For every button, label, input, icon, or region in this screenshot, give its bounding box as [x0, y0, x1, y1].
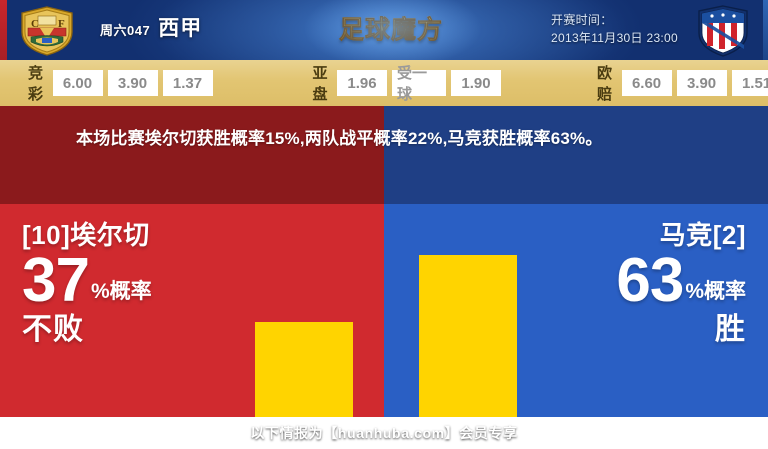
- away-probability-row: 63 %概率: [616, 254, 746, 309]
- headline-band-right: [384, 106, 768, 204]
- odds-group-label: 欧赔: [597, 62, 613, 104]
- elche-cf-crest: C F: [18, 6, 76, 56]
- odds-cell-handicap-line[interactable]: 受一球: [392, 70, 446, 96]
- headline-text: 本场比赛埃尔切获胜概率15%,两队战平概率22%,马竞获胜概率63%。: [76, 125, 706, 153]
- match-round-label: 周六047: [100, 20, 150, 39]
- away-outcome-label: 胜: [616, 315, 746, 345]
- away-probability-value: 63: [616, 254, 683, 309]
- odds-cell-handicap-away[interactable]: 1.90: [451, 70, 501, 96]
- kickoff-info: 开赛时间： 2013年11月30日 23:00: [551, 11, 678, 47]
- odds-cell-euro-away[interactable]: 1.51: [732, 70, 768, 96]
- odds-cell-away-win[interactable]: 1.37: [163, 70, 213, 96]
- odds-group-label: 竞彩: [28, 62, 44, 104]
- away-probability-suffix: %概率: [685, 281, 746, 309]
- home-probability-row: 37 %概率: [22, 254, 152, 309]
- header-left-red-strip: [0, 0, 7, 60]
- kickoff-label: 开赛时间：: [551, 11, 678, 29]
- home-probability-suffix: %概率: [91, 281, 152, 309]
- headline-band-left: [0, 106, 384, 204]
- away-probability-bar: [419, 255, 517, 417]
- odds-group-asian-handicap: 亚盘 1.96 受一球 1.90: [313, 62, 502, 104]
- odds-group-label: 亚盘: [313, 62, 329, 104]
- home-team-name: [10]埃尔切: [22, 222, 152, 248]
- home-stat-block: [10]埃尔切 37 %概率 不败: [22, 222, 152, 345]
- match-preview-screen: C F 周六047 西甲 足球魔方 开赛时间： 2013年11月30日 23:0…: [0, 0, 768, 449]
- home-probability-bar: [255, 322, 353, 417]
- brand-logo-text: 足球魔方: [339, 10, 443, 46]
- odds-cell-euro-home[interactable]: 6.60: [622, 70, 672, 96]
- odds-cell-home-win[interactable]: 6.00: [53, 70, 103, 96]
- match-info: 周六047 西甲: [100, 12, 202, 42]
- home-outcome-label: 不败: [22, 315, 152, 345]
- odds-cell-draw[interactable]: 3.90: [108, 70, 158, 96]
- brand-logo[interactable]: 足球魔方: [330, 10, 452, 46]
- odds-cell-handicap-home[interactable]: 1.96: [337, 70, 387, 96]
- header-bar: C F 周六047 西甲 足球魔方 开赛时间： 2013年11月30日 23:0…: [0, 0, 768, 60]
- atletico-madrid-crest: [696, 5, 750, 57]
- probability-panels: [10]埃尔切 37 %概率 不败 马竞[2] 63 %概率 胜: [0, 204, 768, 417]
- footer-text: 以下情报为【huanhuba.com】会员专享: [250, 423, 517, 443]
- away-panel: 马竞[2] 63 %概率 胜: [384, 204, 768, 417]
- match-league-label: 西甲: [158, 12, 202, 42]
- home-panel: [10]埃尔切 37 %概率 不败: [0, 204, 384, 417]
- headline-band: [0, 106, 768, 204]
- away-stat-block: 马竞[2] 63 %概率 胜: [616, 222, 746, 345]
- odds-group-european: 欧赔 6.60 3.90 1.51: [597, 62, 768, 104]
- odds-cell-euro-draw[interactable]: 3.90: [677, 70, 727, 96]
- away-team-name: 马竞[2]: [616, 222, 746, 248]
- home-probability-value: 37: [22, 254, 89, 309]
- header-right-blue-strip: [763, 0, 768, 60]
- footer-bar: 以下情报为【huanhuba.com】会员专享: [0, 417, 768, 449]
- odds-bar: 竞彩 6.00 3.90 1.37 亚盘 1.96 受一球 1.90 欧赔 6.…: [0, 60, 768, 106]
- kickoff-value: 2013年11月30日 23:00: [551, 29, 678, 47]
- odds-group-jingcai: 竞彩 6.00 3.90 1.37: [28, 62, 213, 104]
